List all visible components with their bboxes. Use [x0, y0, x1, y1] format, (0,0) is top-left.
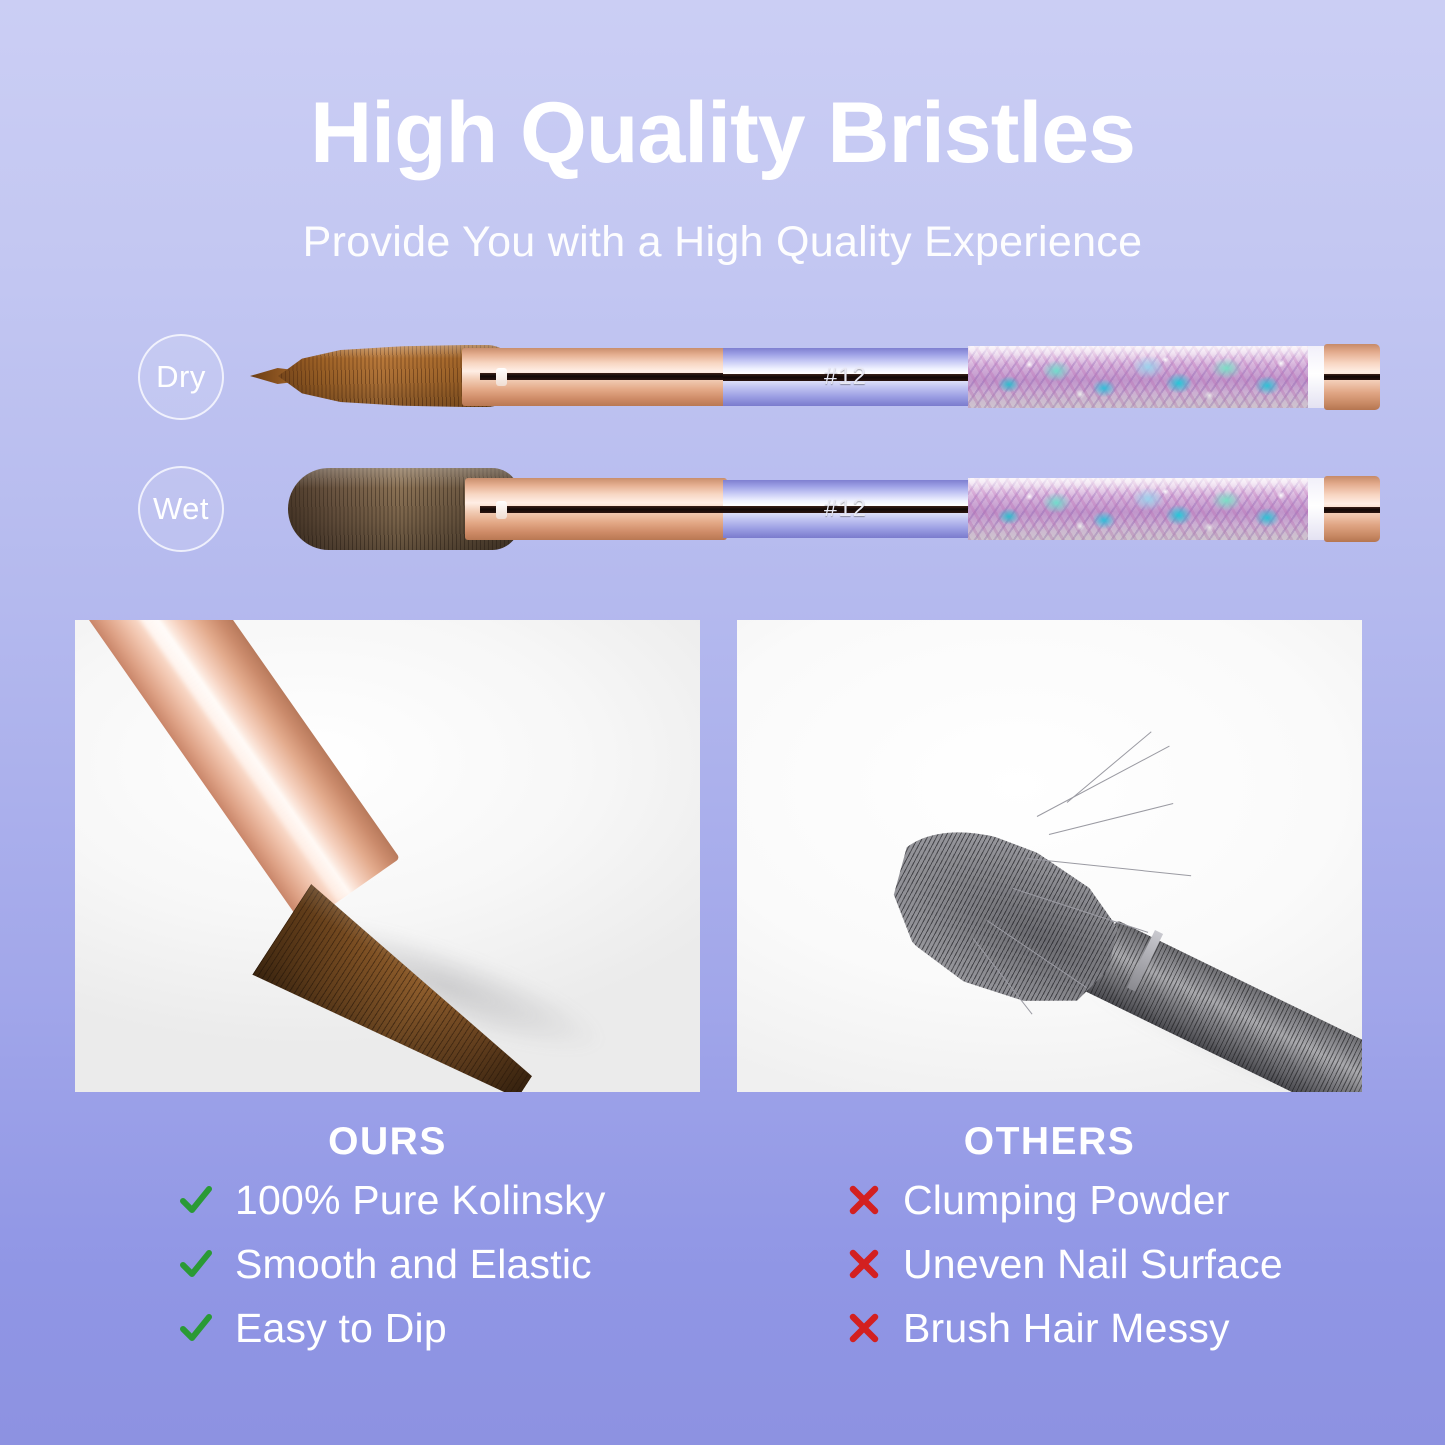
ferrule-crimp-wet — [480, 506, 730, 513]
badge-wet-label: Wet — [153, 491, 209, 527]
brush-illustration-dry: #12 — [250, 320, 1380, 440]
list-item-label: Brush Hair Messy — [903, 1305, 1230, 1352]
badge-dry: Dry — [138, 334, 224, 420]
brush-row-dry: Dry #12 — [0, 320, 1445, 440]
list-item: Smooth and Elastic — [75, 1232, 700, 1296]
badge-wet: Wet — [138, 466, 224, 552]
page-title: High Quality Bristles — [0, 88, 1445, 178]
brush-glitter-barrel-wet — [968, 478, 1308, 540]
list-item: Clumping Powder — [737, 1168, 1362, 1232]
check-icon — [179, 1311, 213, 1345]
badge-dry-label: Dry — [156, 359, 206, 395]
list-item: 100% Pure Kolinsky — [75, 1168, 700, 1232]
ferrule-notch-dry — [496, 368, 507, 386]
endcap-crimp-dry — [1324, 374, 1380, 380]
list-item-label: Smooth and Elastic — [235, 1241, 592, 1288]
list-item-label: 100% Pure Kolinsky — [235, 1177, 606, 1224]
page-subtitle: Provide You with a High Quality Experien… — [0, 218, 1445, 267]
feature-list-ours: 100% Pure Kolinsky Smooth and Elastic Ea… — [75, 1168, 700, 1360]
list-item: Uneven Nail Surface — [737, 1232, 1362, 1296]
infographic-root: High Quality Bristles Provide You with a… — [0, 0, 1445, 1445]
brush-glitter-barrel-dry — [968, 346, 1308, 408]
list-item-label: Uneven Nail Surface — [903, 1241, 1283, 1288]
handle-size-label-dry: #12 — [723, 363, 968, 391]
column-heading-others: OTHERS — [737, 1120, 1362, 1164]
brush-handle-purple-dry: #12 — [723, 348, 968, 406]
cross-icon — [847, 1247, 881, 1281]
feature-list-others: Clumping Powder Uneven Nail Surface Brus… — [737, 1168, 1362, 1360]
brush-handle-purple-wet: #12 — [723, 480, 968, 538]
column-heading-ours: OURS — [75, 1120, 700, 1164]
list-item-label: Clumping Powder — [903, 1177, 1230, 1224]
barrel-clear-gap-wet — [1308, 478, 1324, 540]
cross-icon — [847, 1311, 881, 1345]
check-icon — [179, 1183, 213, 1217]
brush-illustration-wet: #12 — [250, 452, 1380, 572]
check-icon — [179, 1247, 213, 1281]
ferrule-notch-wet — [496, 501, 507, 519]
barrel-clear-gap-dry — [1308, 346, 1324, 408]
ferrule-crimp-dry — [480, 373, 730, 380]
photo-ours — [75, 620, 700, 1092]
list-item-label: Easy to Dip — [235, 1305, 447, 1352]
handle-size-label-wet: #12 — [723, 495, 968, 523]
endcap-crimp-wet — [1324, 507, 1380, 513]
photo-others — [737, 620, 1362, 1092]
list-item: Easy to Dip — [75, 1296, 700, 1360]
cross-icon — [847, 1183, 881, 1217]
brush-row-wet: Wet #12 — [0, 452, 1445, 572]
list-item: Brush Hair Messy — [737, 1296, 1362, 1360]
